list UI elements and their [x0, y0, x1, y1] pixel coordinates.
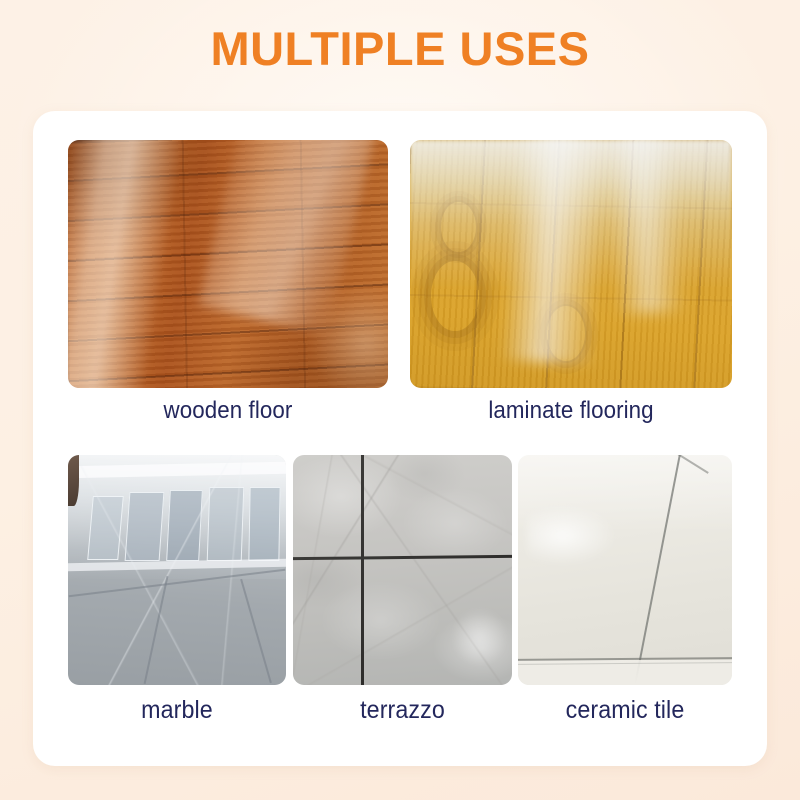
ceramic-highlight: [527, 506, 617, 566]
surface-item-marble[interactable]: marble: [68, 455, 286, 725]
surface-label-laminate-flooring: laminate flooring: [421, 397, 720, 425]
terrazzo-highlight: [451, 607, 508, 667]
surface-item-wooden-floor[interactable]: wooden floor: [68, 140, 388, 425]
surface-row-top: wooden floor laminate flooring: [33, 140, 767, 420]
laminate-flooring-image[interactable]: [410, 140, 732, 388]
surface-label-wooden-floor: wooden floor: [79, 397, 377, 425]
surface-item-laminate-flooring[interactable]: laminate flooring: [410, 140, 732, 425]
wood-reflection-right: [305, 278, 388, 388]
marble-corner-object: [68, 455, 79, 506]
laminate-reflection-2: [605, 140, 686, 315]
infographic-page: MULTIPLE USES wooden floor: [0, 0, 800, 800]
terrazzo-grout-vertical: [361, 455, 364, 685]
surface-label-marble: marble: [76, 696, 279, 725]
surface-label-terrazzo: terrazzo: [301, 696, 505, 725]
page-title: MULTIPLE USES: [210, 24, 589, 73]
surface-item-ceramic-tile[interactable]: ceramic tile: [518, 455, 732, 725]
ceramic-tile-image[interactable]: [518, 455, 732, 685]
content-card: wooden floor laminate flooring: [33, 111, 767, 766]
marble-veining: [68, 455, 286, 685]
surface-item-terrazzo[interactable]: terrazzo: [293, 455, 512, 725]
header: MULTIPLE USES: [0, 24, 800, 73]
surface-label-ceramic-tile: ceramic tile: [525, 696, 724, 725]
laminate-reflection-1: [498, 140, 611, 366]
marble-image[interactable]: [68, 455, 286, 685]
wooden-floor-image[interactable]: [68, 140, 388, 388]
terrazzo-image[interactable]: [293, 455, 512, 685]
surface-row-bottom: marble terrazzo: [33, 455, 767, 731]
